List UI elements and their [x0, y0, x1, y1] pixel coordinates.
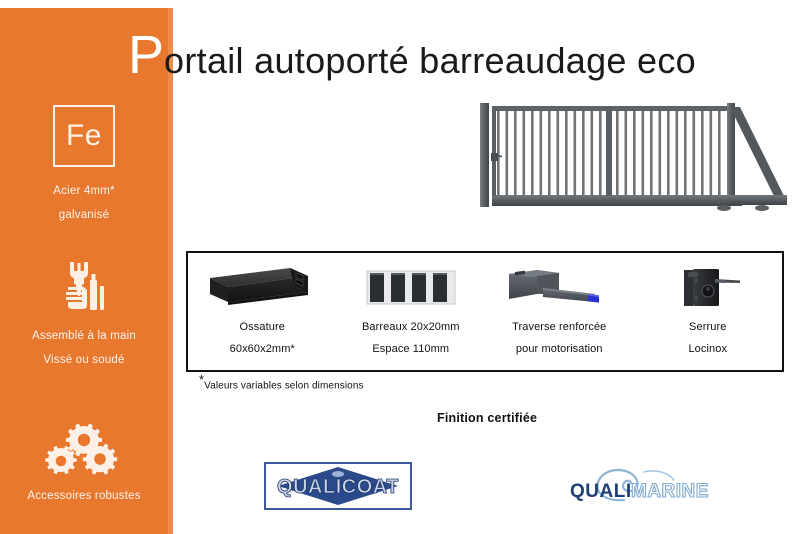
footnote-text: Valeurs variables selon dimensions [204, 380, 363, 391]
fe-element-box-icon: Fe [53, 105, 115, 167]
steel-profile-icon [208, 261, 316, 313]
page-title: Portail autoporté barreaudage eco [128, 28, 696, 84]
panel-item-ossature-caption-2: 60x60x2mm* [230, 344, 295, 356]
wrench-assembly-icon [0, 258, 168, 316]
sliding-gate-illustration [472, 92, 788, 220]
sidebar-feature-steel-label-2: galvanisé [0, 209, 168, 222]
panel-item-barreaux: Barreaux 20x20mm Espace 110mm [337, 253, 486, 370]
lock-icon [668, 261, 748, 313]
sidebar-feature-assembly: Assemblé à la main Vissé ou soudé [0, 258, 168, 366]
gears-icon [0, 418, 168, 476]
sidebar-feature-assembly-label-1: Assemblé à la main [0, 330, 168, 343]
svg-text:QUALICOAT: QUALICOAT [277, 476, 399, 498]
sidebar-feature-accessories: Accessoires robustes [0, 418, 168, 503]
panel-item-serrure-caption-2: Locinox [688, 344, 727, 356]
sidebar-feature-accessories-label-1: Accessoires robustes [0, 490, 168, 503]
panel-item-serrure: Serrure Locinox [634, 253, 783, 370]
panel-item-ossature: Ossature 60x60x2mm* [188, 253, 337, 370]
feature-panel: Ossature 60x60x2mm* [186, 251, 784, 372]
qualicoat-logo: QUALICOAT [264, 462, 412, 510]
sidebar-feature-steel: Fe Acier 4mm* galvanisé [0, 105, 168, 221]
panel-item-traverse-caption-1: Traverse renforcée [512, 322, 606, 334]
fe-symbol-label: Fe [66, 121, 102, 151]
panel-item-traverse: Traverse renforcée pour motorisation [485, 253, 634, 370]
finition-certifiee-label: Finition certifiée [437, 411, 537, 425]
panel-item-traverse-caption-2: pour motorisation [516, 344, 603, 356]
panel-item-barreaux-caption-1: Barreaux 20x20mm [362, 322, 460, 334]
square-bars-icon [363, 261, 459, 313]
qualimarine-logo: QUALI MARINE [558, 460, 718, 512]
panel-item-barreaux-caption-2: Espace 110mm [372, 344, 449, 356]
motorization-rail-icon [503, 261, 615, 313]
sidebar-feature-steel-label-1: Acier 4mm* [0, 185, 168, 198]
panel-item-serrure-caption-1: Serrure [689, 322, 726, 334]
sidebar-edge-strip [168, 8, 173, 534]
footnote: *Valeurs variables selon dimensions [199, 380, 364, 391]
svg-text:MARINE: MARINE [631, 481, 709, 502]
page-title-rest: ortail autoporté barreaudage eco [164, 43, 696, 79]
svg-text:QUALI: QUALI [570, 481, 632, 502]
page-title-initial: P [128, 28, 164, 82]
sidebar-feature-assembly-label-2: Vissé ou soudé [0, 354, 168, 367]
panel-item-ossature-caption-1: Ossature [240, 322, 285, 334]
product-sheet: Fe Acier 4mm* galvanisé [0, 0, 800, 534]
